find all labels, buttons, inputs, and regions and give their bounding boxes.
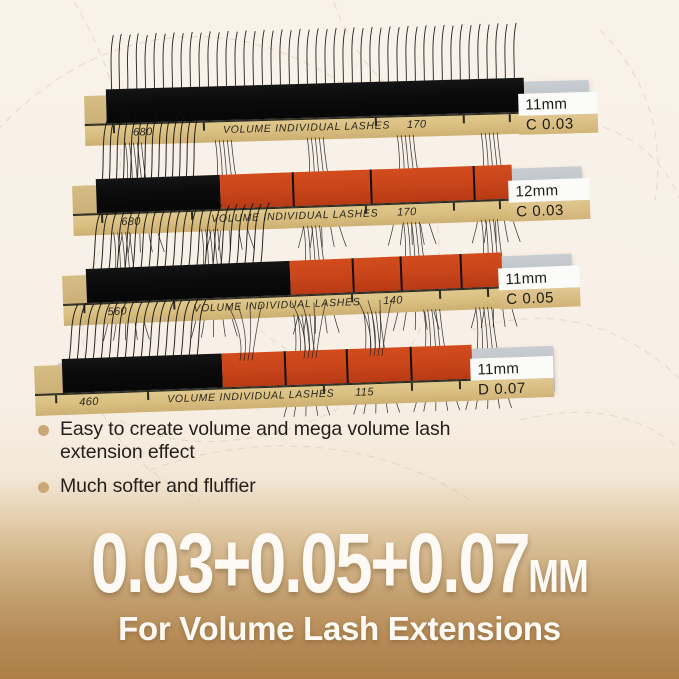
headline-value: 0.03+0.05+0.07: [91, 516, 528, 610]
headline: 0.03+0.05+0.07MM: [68, 521, 611, 605]
curl-thickness-label: C 0.03: [519, 114, 598, 135]
strip-brand-text: VOLUME INDIVIDUAL LASHES: [223, 119, 390, 136]
lash-band: [62, 353, 223, 393]
strip-right-count: 170: [397, 206, 417, 219]
curl-thickness-label: D 0.07: [471, 378, 555, 400]
lash-band: [96, 175, 221, 213]
product-image-canvas: 680 VOLUME INDIVIDUAL LASHES 170 11mm C …: [0, 0, 679, 679]
curl-thickness-label: C 0.05: [499, 287, 581, 309]
strip-left-count: 560: [107, 305, 127, 318]
lash-strip-4[interactable]: 460 VOLUME INDIVIDUAL LASHES 115 11mm D …: [34, 348, 554, 366]
bullet-dot-icon: [38, 482, 49, 493]
strip-left-count: 460: [79, 396, 99, 409]
feature-text: Easy to create volume and mega volume la…: [60, 418, 458, 464]
feature-text: Much softer and fluffier: [60, 475, 256, 498]
length-label: 11mm: [518, 92, 598, 116]
bullet-dot-icon: [38, 425, 49, 436]
length-label: 11mm: [470, 356, 554, 381]
strip-right-count: 170: [407, 118, 427, 131]
length-label: 12mm: [508, 178, 590, 203]
feature-item: Much softer and fluffier: [38, 475, 458, 498]
headline-unit: MM: [528, 550, 588, 602]
lash-strips-group: 680 VOLUME INDIVIDUAL LASHES 170 11mm C …: [0, 0, 679, 430]
lash-strip-3[interactable]: 560 VOLUME INDIVIDUAL LASHES 140 11mm C …: [62, 256, 572, 276]
feature-item: Easy to create volume and mega volume la…: [38, 418, 458, 464]
subheadline: For Volume Lash Extensions: [0, 610, 679, 648]
curl-thickness-label: C 0.03: [509, 200, 591, 222]
feature-list: Easy to create volume and mega volume la…: [38, 418, 458, 509]
strip-right-count: 140: [383, 294, 403, 307]
lash-strip-2[interactable]: 680 VOLUME INDIVIDUAL LASHES 170 12mm C …: [72, 168, 582, 186]
strip-right-count: 115: [355, 386, 374, 399]
strip-left-count: 680: [121, 216, 141, 229]
strip-left-count: 680: [133, 126, 153, 139]
lash-strip-1[interactable]: 680 VOLUME INDIVIDUAL LASHES 170 11mm C …: [84, 82, 589, 96]
